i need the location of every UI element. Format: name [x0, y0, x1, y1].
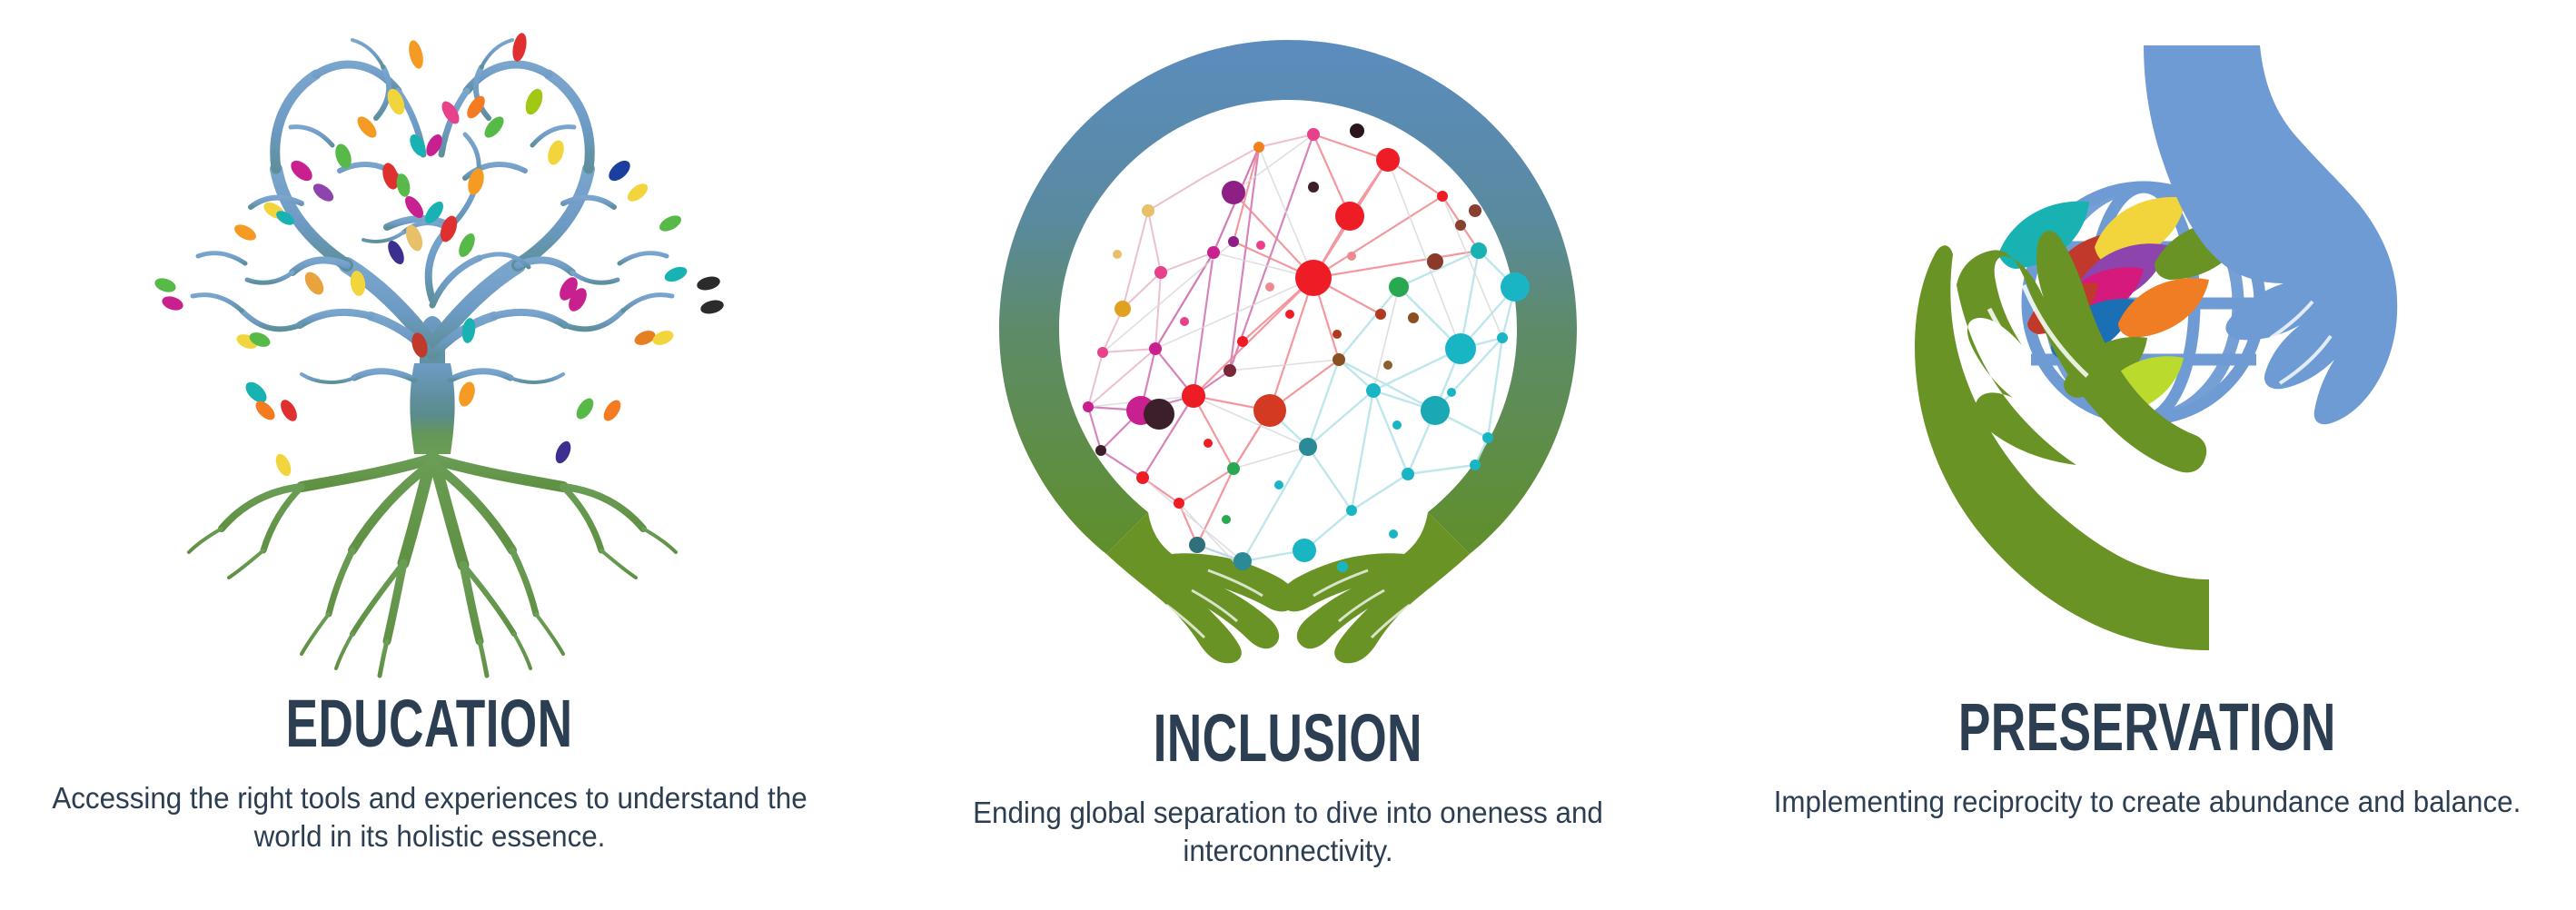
inclusion-illustration [970, 15, 1606, 687]
page-title-education: EDUCATION [285, 690, 572, 763]
right-hand-icon [1280, 512, 1470, 663]
preservation-illustration [1829, 4, 2465, 694]
page-title-inclusion: INCLUSION [1154, 705, 1422, 777]
caption-inclusion: Ending global separation to dive into on… [900, 794, 1677, 870]
caption-preservation: Implementing reciprocity to create abund… [1759, 783, 2535, 821]
embracing-hands-network-icon [859, 0, 1718, 705]
page-title-preservation: PRESERVATION [1958, 694, 2336, 767]
heart-tree-icon [0, 0, 861, 690]
gradient-ring [999, 40, 1577, 554]
value-column-preservation: PRESERVATION Implementing reciprocity to… [1718, 0, 2576, 910]
caption-education: Accessing the right tools and experience… [41, 779, 817, 856]
heart-tree-illustration [114, 0, 750, 690]
value-column-education: EDUCATION Accessing the right tools and … [0, 0, 858, 910]
hands-globe-leaves-icon [1718, 0, 2576, 694]
value-column-inclusion: INCLUSION Ending global separation to di… [859, 0, 1718, 910]
values-panel: EDUCATION Accessing the right tools and … [0, 0, 2576, 910]
